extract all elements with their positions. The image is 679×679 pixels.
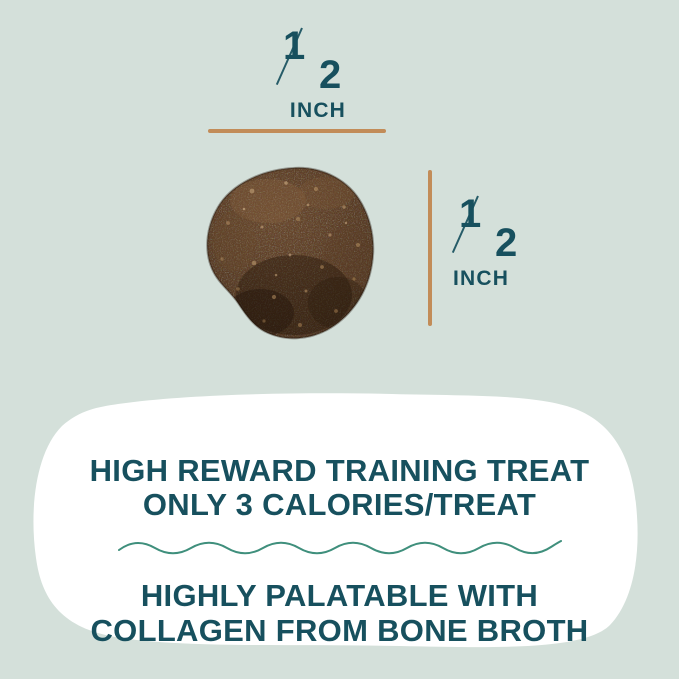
measurement-callout-width: 1 2 INCH bbox=[238, 24, 398, 121]
fraction-denominator: 2 bbox=[319, 55, 342, 95]
measurement-callout-height: 1 2 INCH bbox=[447, 192, 567, 289]
card-background-shape bbox=[0, 380, 679, 670]
fraction-one-half-right: 1 2 bbox=[451, 192, 537, 264]
measurement-unit-label: INCH bbox=[453, 268, 567, 289]
fraction-one-half-top: 1 2 bbox=[275, 24, 361, 96]
info-card: HIGH REWARD TRAINING TREAT ONLY 3 CALORI… bbox=[0, 380, 679, 670]
ruler-line-horizontal bbox=[208, 129, 386, 133]
treat-illustration bbox=[198, 163, 388, 343]
treat-product-image bbox=[198, 163, 388, 343]
ruler-line-vertical bbox=[428, 170, 432, 326]
measurement-unit-label: INCH bbox=[238, 100, 398, 121]
fraction-denominator: 2 bbox=[495, 223, 518, 263]
infographic-canvas: 1 2 INCH 1 2 INCH bbox=[0, 0, 679, 679]
